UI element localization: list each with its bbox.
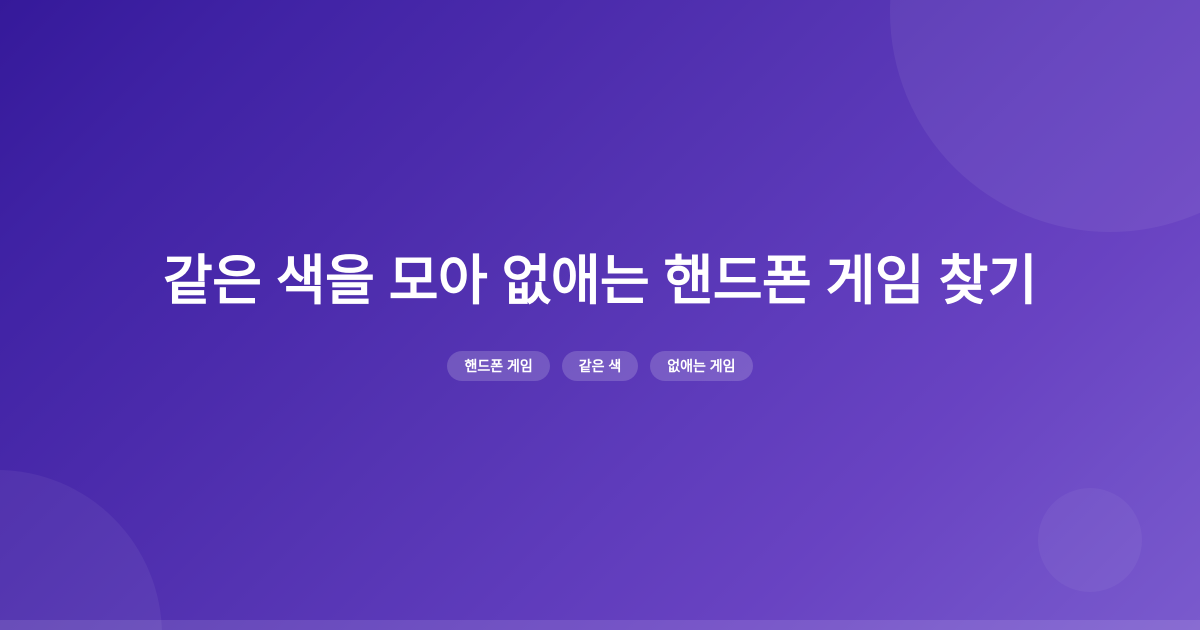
tag-chip-3[interactable]: 없애는 게임: [650, 351, 752, 381]
tag-chip-1[interactable]: 핸드폰 게임: [447, 351, 549, 381]
card-content: 같은 색을 모아 없애는 핸드폰 게임 찾기 핸드폰 게임 같은 색 없애는 게…: [0, 0, 1200, 630]
share-card: 같은 색을 모아 없애는 핸드폰 게임 찾기 핸드폰 게임 같은 색 없애는 게…: [0, 0, 1200, 630]
page-title: 같은 색을 모아 없애는 핸드폰 게임 찾기: [163, 249, 1037, 315]
tag-chip-2[interactable]: 같은 색: [562, 351, 639, 381]
tag-list: 핸드폰 게임 같은 색 없애는 게임: [447, 351, 752, 381]
